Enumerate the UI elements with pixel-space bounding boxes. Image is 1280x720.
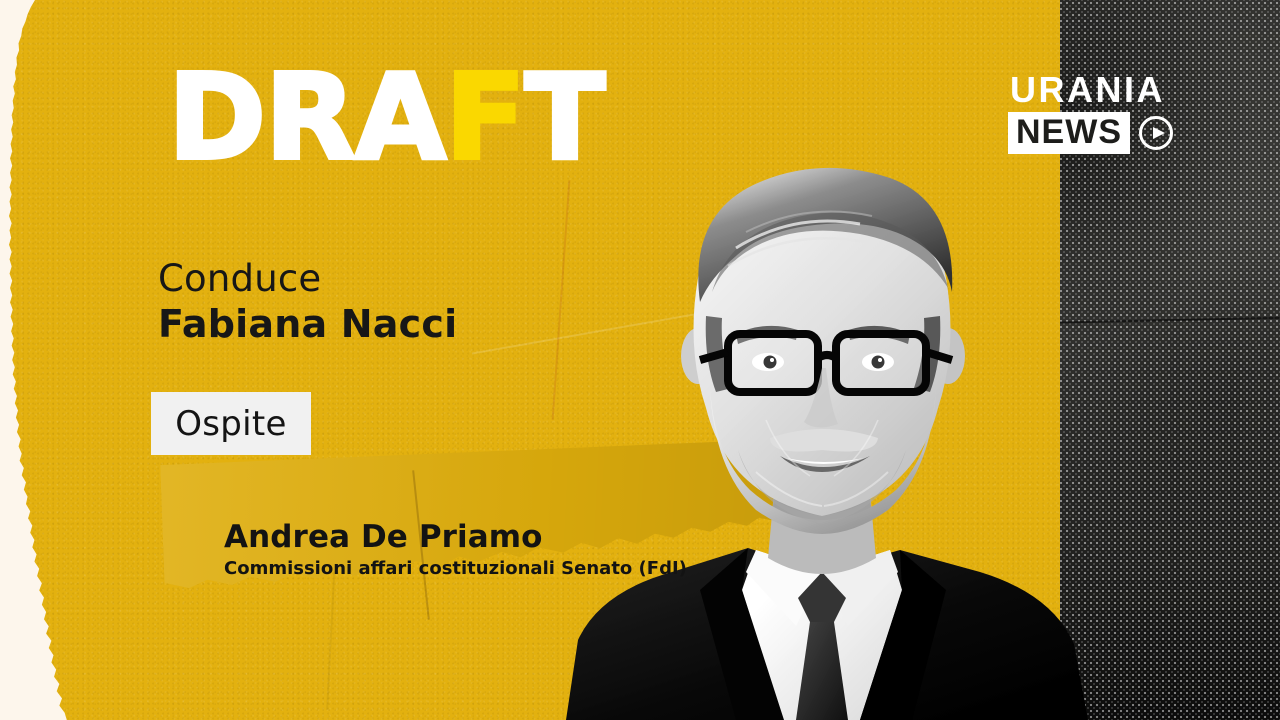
channel-logo-row: NEWS <box>1008 112 1208 154</box>
guest-portrait-photo <box>560 120 1120 720</box>
program-title: DRAFT <box>168 58 604 176</box>
host-block: Conduce Fabiana Nacci <box>158 258 457 346</box>
program-title-part-1: DRA <box>168 48 445 186</box>
program-title-accent: F <box>445 48 525 186</box>
guest-name: Andrea De Priamo <box>224 520 687 554</box>
guest-badge-label: Ospite <box>175 404 287 444</box>
host-label: Conduce <box>158 258 457 301</box>
channel-logo-line-2: NEWS <box>1008 112 1130 154</box>
channel-logo: URANIA NEWS <box>1008 72 1208 154</box>
play-icon <box>1139 116 1173 150</box>
broadcast-lower-third-graphic: DRAFT Conduce Fabiana Nacci Ospite Andre… <box>0 0 1280 720</box>
guest-badge: Ospite <box>151 392 311 455</box>
channel-logo-line-1: URANIA <box>1008 72 1208 108</box>
program-title-part-3: T <box>525 48 605 186</box>
host-name: Fabiana Nacci <box>158 303 457 347</box>
guest-role: Commissioni affari costituzionali Senato… <box>224 558 687 580</box>
guest-block: Andrea De Priamo Commissioni affari cost… <box>224 520 687 580</box>
